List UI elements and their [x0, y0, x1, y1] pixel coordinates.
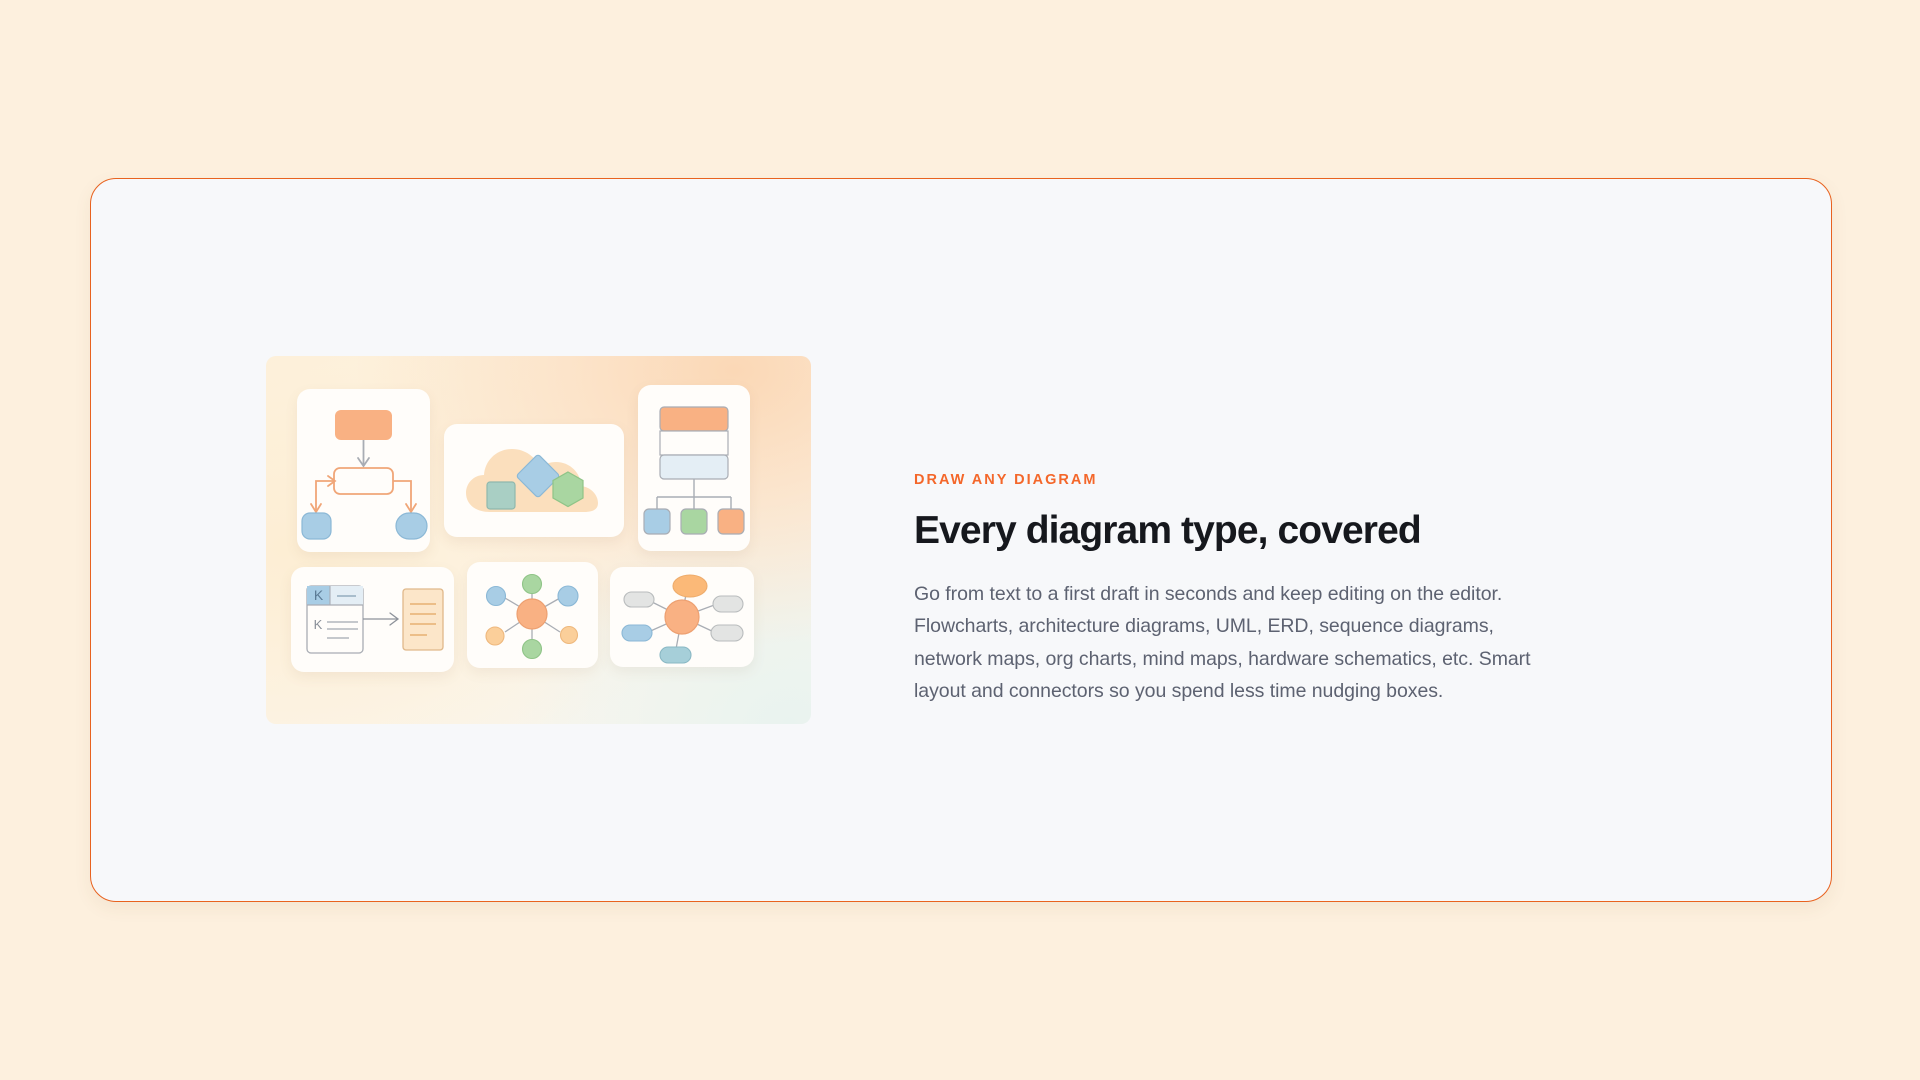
- feature-card-inner: K K: [91, 179, 1831, 901]
- feature-description: Go from text to a first draft in seconds…: [914, 578, 1534, 708]
- illustration-tile-flowchart: [297, 389, 430, 552]
- feature-card: K K: [90, 178, 1832, 902]
- svg-text:K: K: [314, 587, 324, 603]
- eyebrow-label: DRAW ANY DIAGRAM: [914, 472, 1534, 488]
- illustration-tile-network-hub: [467, 562, 598, 668]
- svg-text:K: K: [314, 617, 323, 632]
- illustration-tile-cloud-architecture: [444, 424, 624, 537]
- diagram-illustration-panel: K K: [266, 356, 811, 724]
- illustration-tile-class-sequence: K K: [291, 567, 454, 672]
- page-title: Every diagram type, covered: [914, 509, 1534, 553]
- illustration-tile-erd-table: [638, 385, 750, 551]
- feature-text-column: DRAW ANY DIAGRAM Every diagram type, cov…: [914, 472, 1534, 708]
- illustration-tile-mind-map: [610, 567, 754, 667]
